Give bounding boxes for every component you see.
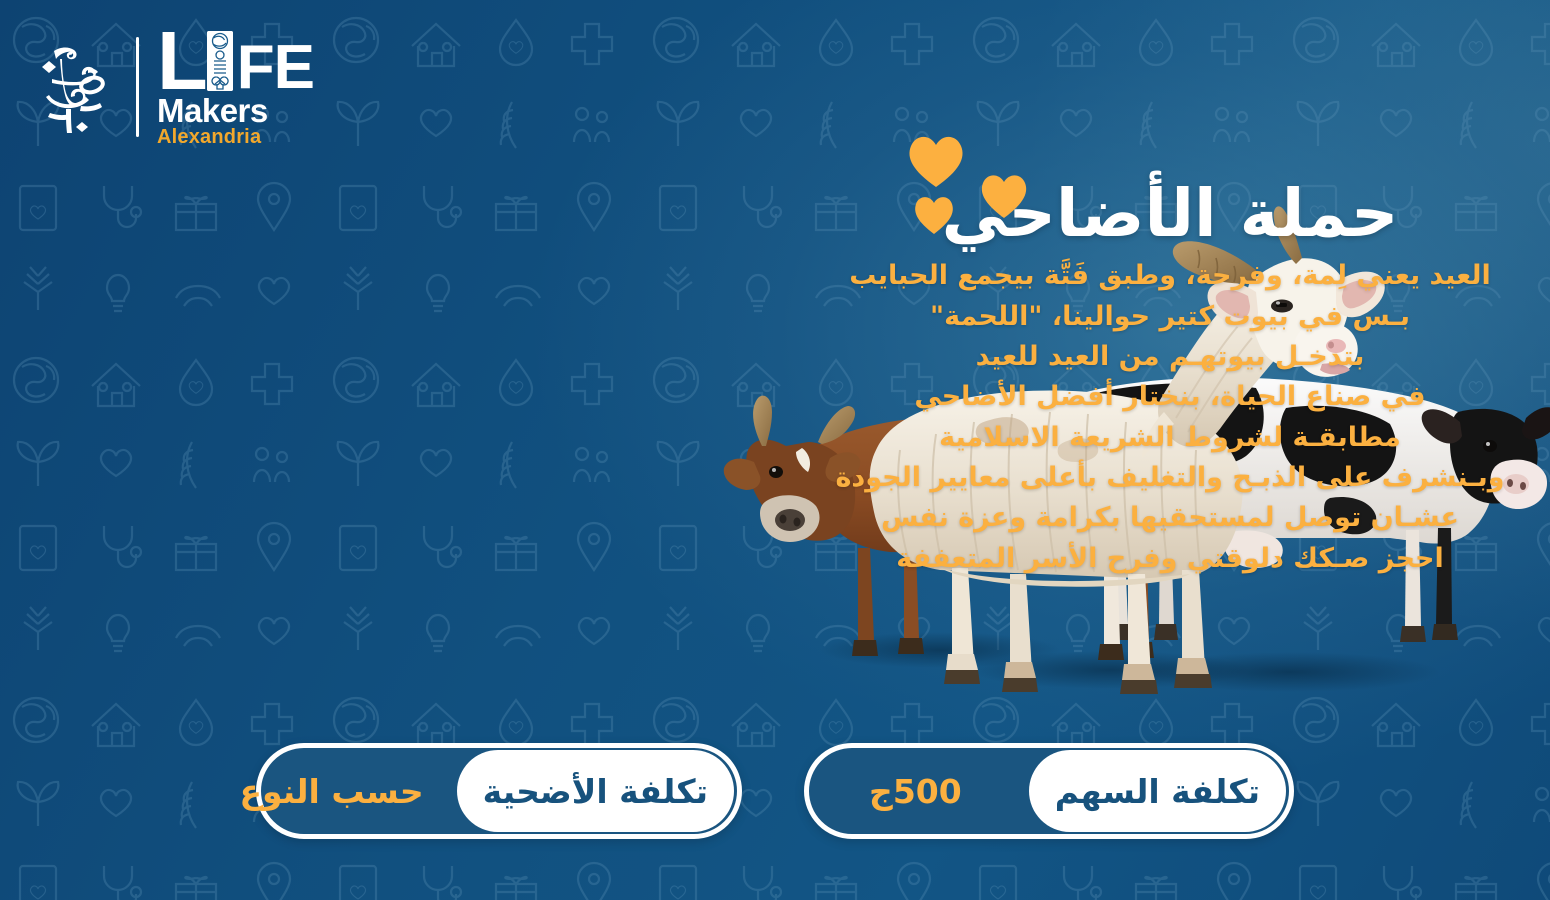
campaign-body-text: العيد يعني لِمة، وفرحة، وطبق فَتَّة بيجم… — [810, 257, 1530, 578]
chapter-name: Alexandria — [157, 128, 261, 146]
share-cost-value: 500ج — [809, 772, 1026, 811]
logo-divider — [136, 37, 139, 137]
campaign-copy: حملة الأضاحي العيد يعني لِمة، وفرحة، وطب… — [810, 178, 1530, 578]
sacrifice-cost-pill[interactable]: تكلفة الأضحية حسب النوع — [256, 743, 742, 839]
body-line: العيد يعني لِمة، وفرحة، وطبق فَتَّة بيجم… — [849, 257, 1491, 295]
sacrifice-cost-value: حسب النوع — [213, 772, 453, 811]
brand-logo[interactable]: L FE Maker — [30, 28, 314, 147]
life-makers-wordmark: L FE Maker — [157, 28, 314, 147]
body-line: وبـنشرف على الذبـح والتغليف بأعلى معايير… — [835, 459, 1504, 497]
pricing-pills: تكلفة السهم 500ج تكلفة الأضحية حسب النوع — [0, 738, 1550, 844]
body-line: عشـان توصل لمستحقيها بكرامة وعزة نفس — [881, 499, 1459, 537]
body-line: مطابقـة لشروط الشريعة الاسلامية — [939, 419, 1401, 457]
sacrifice-cost-label: تكلفة الأضحية — [457, 750, 734, 832]
body-line: احجز صـكك دلوقتي وفرح الأسر المتعففة — [896, 540, 1444, 578]
life-letter-l: L — [157, 29, 206, 94]
share-cost-pill[interactable]: تكلفة السهم 500ج — [804, 743, 1294, 839]
share-cost-label: تكلفة السهم — [1029, 750, 1286, 832]
body-line: بـس في بيوت كتير حوالينا، "اللحمة" — [930, 298, 1410, 336]
body-line: بتدخـل بيوتهـم من العيد للعيد — [976, 338, 1365, 376]
body-line: في صناع الحياة، بنختار أفضل الأضاحي — [914, 378, 1425, 416]
life-letters-fe: FE — [237, 43, 314, 94]
makers-text: Makers — [157, 96, 268, 126]
page-title: حملة الأضاحي — [810, 178, 1530, 249]
arabic-calligraphy-logo-icon — [30, 35, 122, 139]
globe-pattern-icon — [207, 31, 233, 91]
campaign-poster: L FE Maker — [0, 0, 1550, 900]
